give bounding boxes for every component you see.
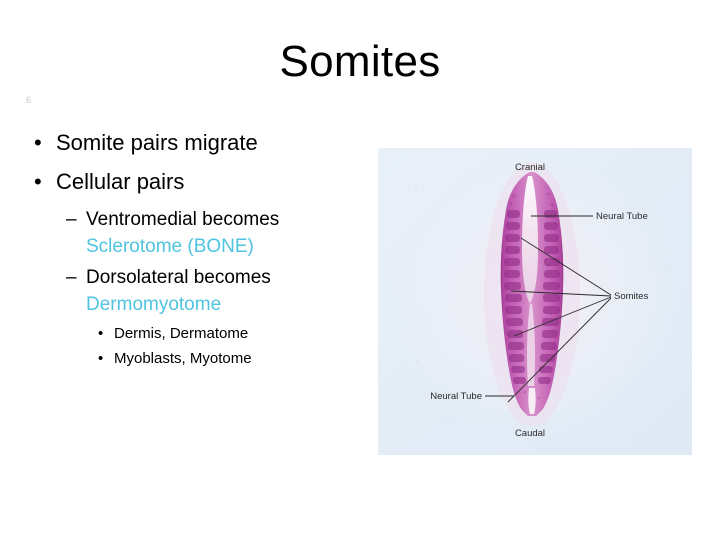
- bullet-marker: •: [34, 167, 56, 197]
- label-neural-tube-bottom: Neural Tube: [430, 391, 482, 402]
- bullet-marker: •: [34, 128, 56, 158]
- label-caudal: Caudal: [515, 428, 545, 439]
- embryo-micrograph: Cranial Neural Tube Somites Neural Tube …: [378, 148, 692, 455]
- list-item-label: Dorsolateral becomes Dermomyotome: [86, 264, 364, 318]
- label-neural-tube-top: Neural Tube: [596, 211, 648, 222]
- list-item: • Myoblasts, Myotome: [98, 347, 364, 371]
- list-item-text: Ventromedial becomes: [86, 209, 279, 230]
- list-item: • Somite pairs migrate: [34, 128, 364, 158]
- list-item-label: Somite pairs migrate: [56, 128, 364, 158]
- bullet-marker: –: [66, 264, 86, 291]
- slide-number: 6: [26, 96, 31, 105]
- label-somites: Somites: [614, 291, 649, 302]
- list-item-label: Ventromedial becomes Sclerotome (BONE): [86, 206, 364, 260]
- list-item-text: Dorsolateral becomes: [86, 267, 271, 288]
- list-item-accent-term: Sclerotome (BONE): [86, 236, 254, 257]
- list-item: • Dermis, Dermatome: [98, 322, 364, 346]
- bullet-marker: •: [98, 322, 114, 346]
- bullet-marker: •: [98, 347, 114, 371]
- list-item-label: Myoblasts, Myotome: [114, 347, 364, 371]
- list-item: • Cellular pairs: [34, 167, 364, 197]
- list-item-accent-term: Dermomyotome: [86, 294, 221, 315]
- list-item: – Dorsolateral becomes Dermomyotome: [66, 264, 364, 318]
- label-cranial: Cranial: [515, 162, 545, 173]
- list-item-label: Dermis, Dermatome: [114, 322, 364, 346]
- list-item-label: Cellular pairs: [56, 167, 364, 197]
- bullet-list: • Somite pairs migrate • Cellular pairs …: [34, 128, 364, 372]
- bullet-marker: –: [66, 206, 86, 233]
- slide-canvas: 6 Somites • Somite pairs migrate • Cellu…: [0, 0, 720, 539]
- list-item: – Ventromedial becomes Sclerotome (BONE): [66, 206, 364, 260]
- caudal-neural-tube: [528, 388, 535, 414]
- figure-panel: Cranial Neural Tube Somites Neural Tube …: [378, 148, 692, 455]
- page-title: Somites: [0, 38, 720, 86]
